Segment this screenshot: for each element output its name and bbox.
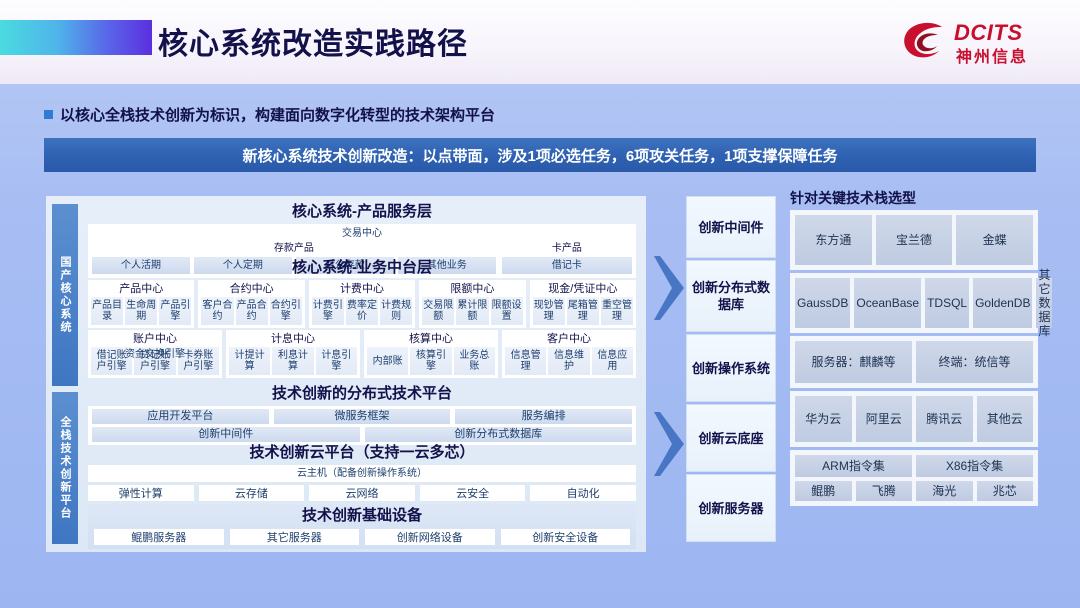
business-layer-title: 核心系统-业务中台层	[88, 258, 636, 278]
tech-stack-item[interactable]: X86指令集	[916, 455, 1033, 477]
center-title: 产品中心	[91, 282, 191, 296]
innovation-task-5[interactable]: 创新服务器	[686, 474, 776, 542]
product-layer-title: 核心系统-产品服务层	[88, 202, 636, 222]
center-item[interactable]: 业务总账	[454, 347, 495, 375]
innovation-task-4[interactable]: 创新云底座	[686, 404, 776, 472]
infrastructure-item[interactable]: 鲲鹏服务器	[94, 529, 224, 545]
tech-stack-item[interactable]: 华为云	[795, 396, 852, 442]
product-group-title: 存款产品	[92, 242, 496, 256]
center-title: 账户中心	[91, 332, 219, 346]
center-title: 现金/凭证中心	[533, 282, 633, 296]
tech-stack-item[interactable]: 其他云	[977, 396, 1034, 442]
center-item[interactable]: 计息引擎	[316, 347, 357, 375]
cloud-host-box: 云主机（配备创新操作系统）	[88, 465, 636, 482]
center-items: 交易限额累计限额限额设置	[422, 297, 522, 325]
center-title: 合约中心	[201, 282, 301, 296]
innovation-task-1[interactable]: 创新中间件	[686, 196, 776, 258]
tech-stack-row: GaussDBOceanBaseTDSQLGoldenDB其它数据库	[795, 278, 1033, 328]
center-card: 账户中心借记账户引擎贷记账户引擎卡券账户引擎资金交换引擎	[88, 330, 222, 378]
center-item[interactable]: 内部账	[367, 347, 408, 375]
tech-platform-box: 应用开发平台微服务框架服务编排创新中间件创新分布式数据库	[88, 406, 636, 445]
center-items: 客户合约产品合约合约引擎	[201, 297, 301, 325]
business-row-1: 产品中心产品目录生命周期产品引擎合约中心客户合约产品合约合约引擎计费中心计费引擎…	[88, 280, 636, 328]
center-item[interactable]: 限额设置	[491, 297, 523, 325]
tech-platform-item[interactable]: 服务编排	[455, 409, 632, 424]
center-items: 产品目录生命周期产品引擎	[91, 297, 191, 325]
tech-stack-selection-panel: 东方通宝兰德金蝶GaussDBOceanBaseTDSQLGoldenDB其它数…	[790, 210, 1038, 509]
center-item[interactable]: 交易限额	[422, 297, 454, 325]
infrastructure-item[interactable]: 创新网络设备	[365, 529, 495, 545]
center-title: 计费中心	[312, 282, 412, 296]
tech-stack-row: ARM指令集X86指令集	[795, 455, 1033, 477]
product-group-title: 卡产品	[502, 242, 632, 256]
center-card: 计费中心计费引擎费率定价计费规则	[309, 280, 415, 328]
center-items: 信息管理信息维护信息应用	[505, 347, 633, 375]
center-item[interactable]: 尾箱管理	[567, 297, 599, 325]
center-title: 计息中心	[229, 332, 357, 346]
tech-stack-item[interactable]: 其它数据库	[1036, 278, 1052, 328]
center-card: 计息中心计提计算利息计算计息引擎	[226, 330, 360, 378]
center-item[interactable]: 合约引擎	[270, 297, 302, 325]
tech-stack-item[interactable]: GaussDB	[795, 278, 850, 328]
center-item[interactable]: 累计限额	[456, 297, 488, 325]
cloud-item[interactable]: 云存储	[199, 485, 305, 501]
logo-chinese-name: 神州信息	[956, 43, 1028, 67]
subtitle-text: 以核心全栈技术创新为标识，构建面向数字化转型的技术架构平台	[60, 104, 495, 125]
flow-arrow-upper-icon	[652, 248, 686, 328]
tech-platform-title: 技术创新的分布式技术平台	[88, 384, 636, 404]
center-item[interactable]: 信息管理	[505, 347, 546, 375]
innovation-tasks-column: 创新中间件创新分布式数据库创新操作系统创新云底座创新服务器	[686, 196, 776, 544]
business-middle-layer: 核心系统-业务中台层产品中心产品目录生命周期产品引擎合约中心客户合约产品合约合约…	[88, 258, 636, 378]
cloud-item[interactable]: 云安全	[420, 485, 526, 501]
tech-platform-item[interactable]: 应用开发平台	[92, 409, 269, 424]
tech-platform-row-2: 创新中间件创新分布式数据库	[92, 427, 632, 442]
tech-stack-item[interactable]: 阿里云	[856, 396, 913, 442]
center-item[interactable]: 产品合约	[236, 297, 268, 325]
center-card: 限额中心交易限额累计限额限额设置	[419, 280, 525, 328]
center-items: 计费引擎费率定价计费规则	[312, 297, 412, 325]
side-label-domestic-core: 国产核心系统	[52, 204, 78, 386]
tech-stack-item[interactable]: 宝兰德	[876, 215, 953, 265]
cloud-host-label: 云主机（配备创新操作系统）	[90, 467, 634, 480]
center-card: 合约中心客户合约产品合约合约引擎	[198, 280, 304, 328]
center-item[interactable]: 计提计算	[229, 347, 270, 375]
right-panel-title: 针对关键技术栈选型	[790, 188, 916, 208]
center-item[interactable]: 产品引擎	[159, 297, 191, 325]
infrastructure-layer: 技术创新基础设备鲲鹏服务器其它服务器创新网络设备创新安全设备	[88, 504, 636, 549]
tech-stack-item[interactable]: 终端：统信等	[916, 341, 1033, 383]
architecture-panel: 国产核心系统 全栈技术创新平台 核心系统-产品服务层交易中心存款产品个人活期个人…	[46, 196, 646, 552]
tech-stack-item[interactable]: 金蝶	[956, 215, 1033, 265]
tech-stack-item[interactable]: 海光	[916, 481, 973, 501]
cloud-item[interactable]: 自动化	[530, 485, 636, 501]
tech-platform-item[interactable]: 微服务框架	[274, 409, 451, 424]
tech-stack-group-server: ARM指令集X86指令集鲲鹏飞腾海光兆芯	[790, 450, 1038, 506]
cloud-items-row: 弹性计算云存储云网络云安全自动化	[88, 485, 636, 501]
center-card: 现金/凭证中心现钞管理尾箱管理重空管理	[530, 280, 636, 328]
tech-stack-row: 东方通宝兰德金蝶	[795, 215, 1033, 265]
dcits-logo: DCITS 神州信息	[902, 18, 1042, 66]
distributed-tech-platform: 技术创新的分布式技术平台应用开发平台微服务框架服务编排创新中间件创新分布式数据库	[88, 384, 636, 445]
tech-stack-item[interactable]: ARM指令集	[795, 455, 912, 477]
center-title: 限额中心	[422, 282, 522, 296]
tech-stack-item[interactable]: 腾讯云	[916, 396, 973, 442]
cloud-item[interactable]: 云网络	[309, 485, 415, 501]
tech-stack-item[interactable]: GoldenDB	[973, 278, 1032, 328]
tech-stack-group-database: GaussDBOceanBaseTDSQLGoldenDB其它数据库	[790, 273, 1038, 333]
center-item[interactable]: 信息应用	[592, 347, 633, 375]
center-item[interactable]: 客户合约	[201, 297, 233, 325]
tech-stack-group-middleware: 东方通宝兰德金蝶	[790, 210, 1038, 270]
side-label-fullstack-platform: 全栈技术创新平台	[52, 392, 78, 544]
tech-platform-item[interactable]: 创新中间件	[92, 427, 360, 442]
center-item[interactable]: 生命周期	[125, 297, 157, 325]
tech-stack-item[interactable]: 服务器：麒麟等	[795, 341, 912, 383]
tech-platform-item[interactable]: 创新分布式数据库	[365, 427, 633, 442]
center-title: 客户中心	[505, 332, 633, 346]
center-card: 产品中心产品目录生命周期产品引擎	[88, 280, 194, 328]
center-item[interactable]: 现钞管理	[533, 297, 565, 325]
innovation-task-2[interactable]: 创新分布式数据库	[686, 260, 776, 332]
cloud-platform-title: 技术创新云平台（支持一云多芯）	[88, 443, 636, 463]
tech-stack-item[interactable]: 鲲鹏	[795, 481, 852, 501]
infrastructure-item[interactable]: 其它服务器	[230, 529, 360, 545]
center-item[interactable]: 信息维护	[548, 347, 589, 375]
center-item[interactable]: 贷记账户引擎	[134, 347, 175, 375]
tech-stack-group-os: 服务器：麒麟等终端：统信等	[790, 336, 1038, 388]
cloud-item[interactable]: 弹性计算	[88, 485, 194, 501]
center-item[interactable]: 产品目录	[91, 297, 123, 325]
infrastructure-item[interactable]: 创新安全设备	[501, 529, 631, 545]
center-card: 客户中心信息管理信息维护信息应用	[502, 330, 636, 378]
center-item[interactable]: 计费引擎	[312, 297, 344, 325]
center-card: 核算中心内部账核算引擎业务总账	[364, 330, 498, 378]
tech-stack-group-cloud: 华为云阿里云腾讯云其他云	[790, 391, 1038, 447]
innovation-task-3[interactable]: 创新操作系统	[686, 334, 776, 402]
center-item[interactable]: 利息计算	[272, 347, 313, 375]
center-item[interactable]: 重空管理	[601, 297, 633, 325]
tech-stack-row: 服务器：麒麟等终端：统信等	[795, 341, 1033, 383]
center-item[interactable]: 卡券账户引擎	[178, 347, 219, 375]
tech-stack-item[interactable]: 东方通	[795, 215, 872, 265]
transaction-center-label: 交易中心	[92, 227, 632, 240]
tech-stack-row: 华为云阿里云腾讯云其他云	[795, 396, 1033, 442]
tech-stack-item[interactable]: 兆芯	[977, 481, 1034, 501]
center-item[interactable]: 费率定价	[346, 297, 378, 325]
header-accent-bar	[0, 20, 152, 55]
tech-platform-row-1: 应用开发平台微服务框架服务编排	[92, 409, 632, 424]
banner-text: 新核心系统技术创新改造：以点带面，涉及1项必选任务，6项攻关任务，1项支撑保障任…	[242, 145, 837, 166]
center-item[interactable]: 核算引擎	[410, 347, 451, 375]
highlight-banner: 新核心系统技术创新改造：以点带面，涉及1项必选任务，6项攻关任务，1项支撑保障任…	[44, 138, 1036, 172]
center-items: 内部账核算引擎业务总账	[367, 347, 495, 375]
center-items: 借记账户引擎贷记账户引擎卡券账户引擎	[91, 347, 219, 375]
tech-stack-row: 鲲鹏飞腾海光兆芯	[795, 481, 1033, 501]
center-item[interactable]: 计费规则	[380, 297, 412, 325]
infrastructure-title: 技术创新基础设备	[88, 506, 636, 526]
center-title: 核算中心	[367, 332, 495, 346]
flow-arrow-lower-icon	[652, 404, 686, 484]
center-item[interactable]: 借记账户引擎	[91, 347, 132, 375]
dcits-logo-icon	[902, 21, 948, 63]
business-row-2: 账户中心借记账户引擎贷记账户引擎卡券账户引擎资金交换引擎计息中心计提计算利息计算…	[88, 330, 636, 378]
page-header: 核心系统改造实践路径 DCITS 神州信息	[0, 0, 1080, 84]
tech-stack-item[interactable]: 飞腾	[856, 481, 913, 501]
center-items: 现钞管理尾箱管理重空管理	[533, 297, 633, 325]
tech-stack-item[interactable]: TDSQL	[925, 278, 969, 328]
cloud-platform: 技术创新云平台（支持一云多芯）云主机（配备创新操作系统）弹性计算云存储云网络云安…	[88, 443, 636, 501]
tech-stack-item[interactable]: OceanBase	[854, 278, 921, 328]
bullet-square-icon	[44, 110, 53, 119]
page-title: 核心系统改造实践路径	[158, 19, 468, 63]
subtitle-row: 以核心全栈技术创新为标识，构建面向数字化转型的技术架构平台	[44, 104, 495, 125]
infrastructure-items-row: 鲲鹏服务器其它服务器创新网络设备创新安全设备	[88, 529, 636, 545]
center-items: 计提计算利息计算计息引擎	[229, 347, 357, 375]
